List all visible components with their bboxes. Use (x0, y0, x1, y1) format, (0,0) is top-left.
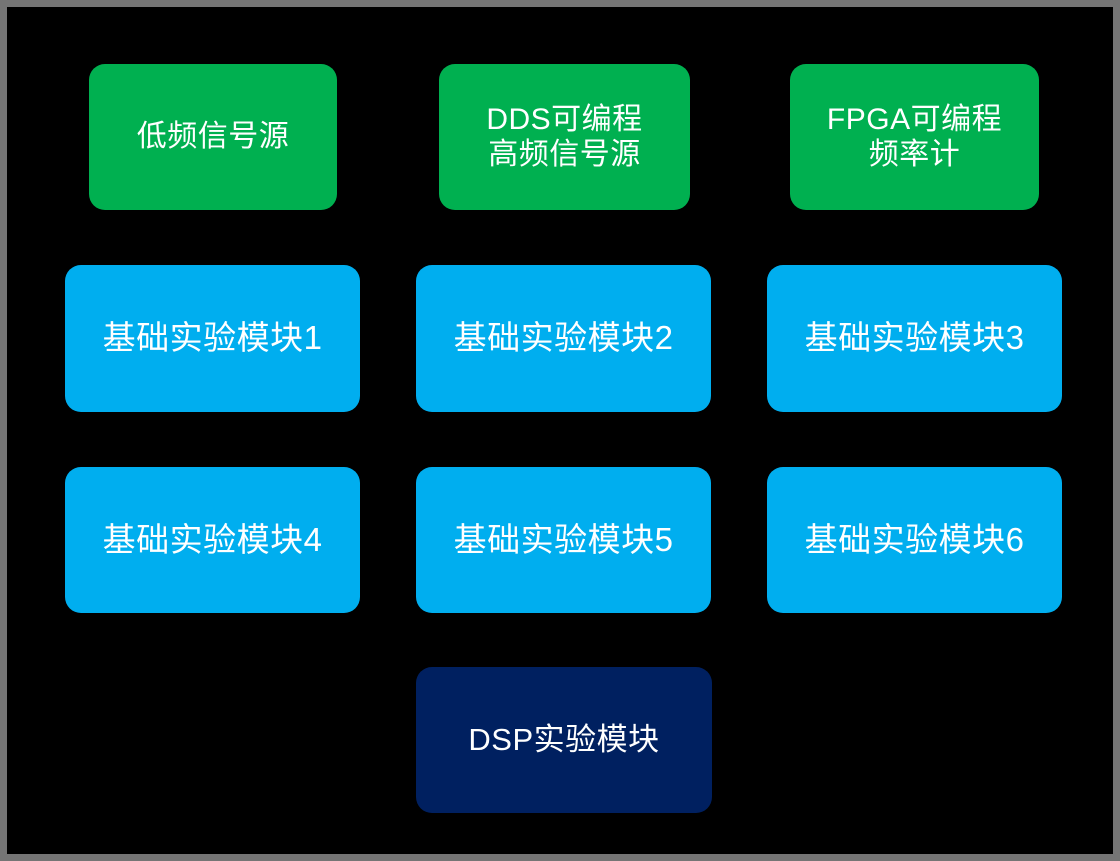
node-basic-module-5[interactable]: 基础实验模块5 (416, 467, 711, 613)
node-basic-module-6[interactable]: 基础实验模块6 (767, 467, 1062, 613)
node-fpga-freq-counter-label: FPGA可编程 频率计 (790, 102, 1039, 173)
node-basic-module-3[interactable]: 基础实验模块3 (767, 265, 1062, 412)
diagram-canvas: 低频信号源 DDS可编程 高频信号源 FPGA可编程 频率计 基础实验模块1 基… (0, 0, 1120, 861)
node-dds-high-freq-source[interactable]: DDS可编程 高频信号源 (439, 64, 690, 210)
node-fpga-freq-counter[interactable]: FPGA可编程 频率计 (790, 64, 1039, 210)
node-low-freq-source[interactable]: 低频信号源 (89, 64, 337, 210)
node-dsp-module[interactable]: DSP实验模块 (416, 667, 712, 813)
node-basic-module-5-label: 基础实验模块5 (416, 521, 711, 560)
node-basic-module-4-label: 基础实验模块4 (65, 521, 360, 560)
node-basic-module-1[interactable]: 基础实验模块1 (65, 265, 360, 412)
node-dds-high-freq-source-label: DDS可编程 高频信号源 (439, 102, 690, 173)
node-basic-module-1-label: 基础实验模块1 (65, 319, 360, 358)
node-basic-module-4[interactable]: 基础实验模块4 (65, 467, 360, 613)
node-dsp-module-label: DSP实验模块 (416, 722, 712, 759)
node-basic-module-3-label: 基础实验模块3 (767, 319, 1062, 358)
node-basic-module-6-label: 基础实验模块6 (767, 521, 1062, 560)
node-basic-module-2-label: 基础实验模块2 (416, 319, 711, 358)
node-low-freq-source-label: 低频信号源 (89, 119, 337, 154)
node-basic-module-2[interactable]: 基础实验模块2 (416, 265, 711, 412)
